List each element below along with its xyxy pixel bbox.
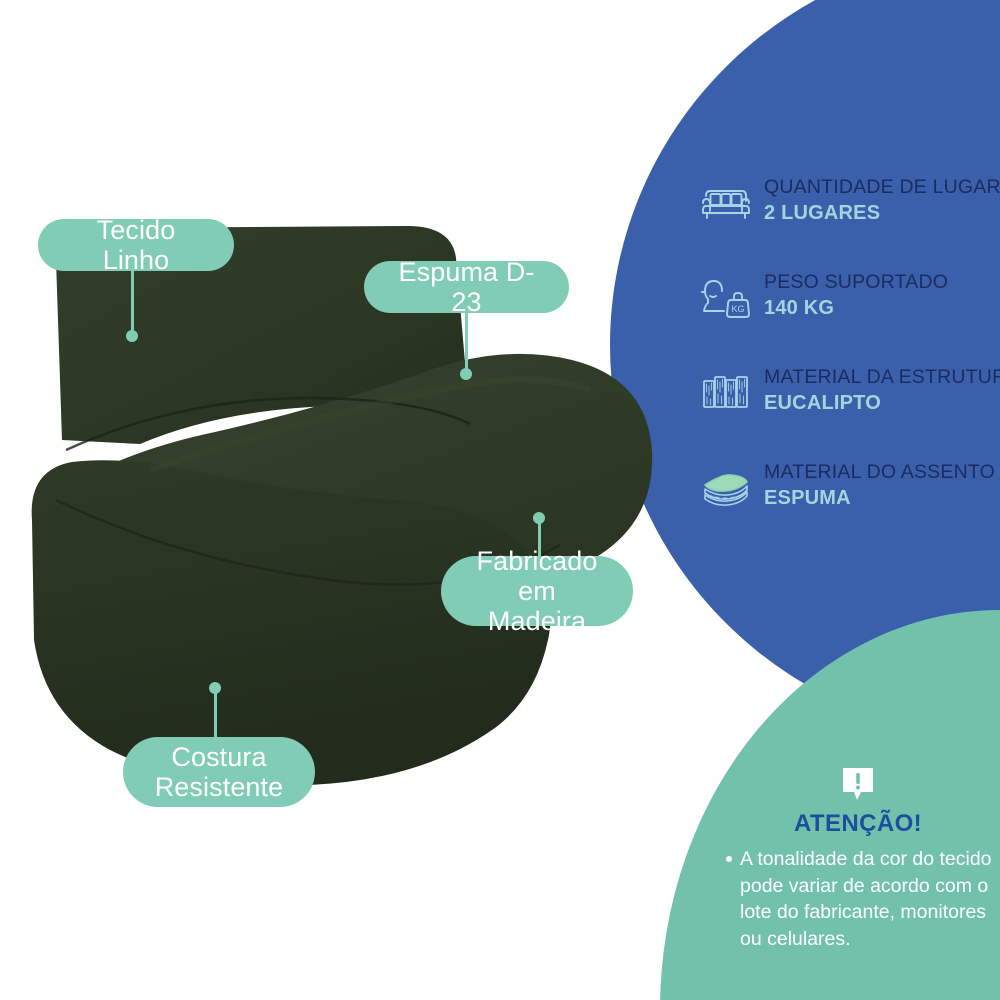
spec-list: QUANTIDADE DE LUGARES 2 LUGARES KG PESO … — [700, 176, 1000, 556]
callout-label: Costura Resistente — [155, 742, 284, 802]
spec-text: QUANTIDADE DE LUGARES 2 LUGARES — [764, 176, 1000, 225]
speech-bubble-exclamation-icon — [837, 762, 879, 804]
foam-layers-icon — [700, 465, 752, 511]
callout-costura-resistente[interactable]: Costura Resistente — [123, 737, 315, 807]
spec-row-peso-suportado: KG PESO SUPORTADO 140 KG — [700, 271, 1000, 366]
callout-tecido-linho[interactable]: Tecido Linho — [38, 219, 234, 271]
attention-bullet-icon — [726, 856, 732, 862]
spec-value: ESPUMA — [764, 487, 995, 510]
callout-espuma-d23[interactable]: Espuma D-23 — [364, 261, 569, 313]
callout-label: Fabricado em Madeira — [463, 546, 611, 637]
sofa-icon — [700, 180, 752, 226]
spec-label: MATERIAL DO ASSENTO — [764, 461, 995, 484]
attention-title: ATENÇÃO! — [718, 810, 998, 838]
leader-dot-costura-resistente — [209, 682, 221, 694]
spec-text: MATERIAL DO ASSENTO ESPUMA — [764, 461, 995, 510]
leader-line-tecido-linho — [131, 271, 134, 335]
leader-line-costura-resistente — [214, 688, 217, 742]
spec-text: MATERIAL DA ESTRUTURA EUCALIPTO — [764, 366, 1000, 415]
spec-label: QUANTIDADE DE LUGARES — [764, 176, 1000, 199]
spec-value: EUCALIPTO — [764, 392, 1000, 415]
callout-label: Tecido Linho — [60, 215, 212, 275]
spec-value: 2 LUGARES — [764, 202, 1000, 225]
infographic-canvas: Tecido Linho Espuma D-23 Fabricado em Ma… — [0, 0, 1000, 1000]
leader-dot-espuma-d23 — [460, 368, 472, 380]
spec-label: PESO SUPORTADO — [764, 271, 948, 294]
spec-row-material-do-assento: MATERIAL DO ASSENTO ESPUMA — [700, 461, 1000, 556]
spec-row-quantidade-de-lugares: QUANTIDADE DE LUGARES 2 LUGARES — [700, 176, 1000, 271]
attention-body-text: A tonalidade da cor do tecido pode varia… — [740, 848, 992, 950]
wood-planks-icon — [700, 370, 752, 416]
callout-fabricado-em-madeira[interactable]: Fabricado em Madeira — [441, 556, 633, 626]
spec-row-material-da-estrutura: MATERIAL DA ESTRUTURA EUCALIPTO — [700, 366, 1000, 461]
leader-dot-fabricado-em-madeira — [533, 512, 545, 524]
leader-line-espuma-d23 — [465, 313, 468, 373]
spec-value: 140 KG — [764, 297, 948, 320]
spec-label: MATERIAL DA ESTRUTURA — [764, 366, 1000, 389]
attention-body-wrapper: A tonalidade da cor do tecido pode varia… — [718, 846, 998, 952]
attention-block: ATENÇÃO! A tonalidade da cor do tecido p… — [718, 762, 998, 952]
leader-dot-tecido-linho — [126, 330, 138, 342]
spec-text: PESO SUPORTADO 140 KG — [764, 271, 948, 320]
svg-text:KG: KG — [731, 304, 744, 314]
person-weight-kg-icon: KG — [700, 275, 752, 321]
callout-label: Espuma D-23 — [386, 257, 547, 317]
